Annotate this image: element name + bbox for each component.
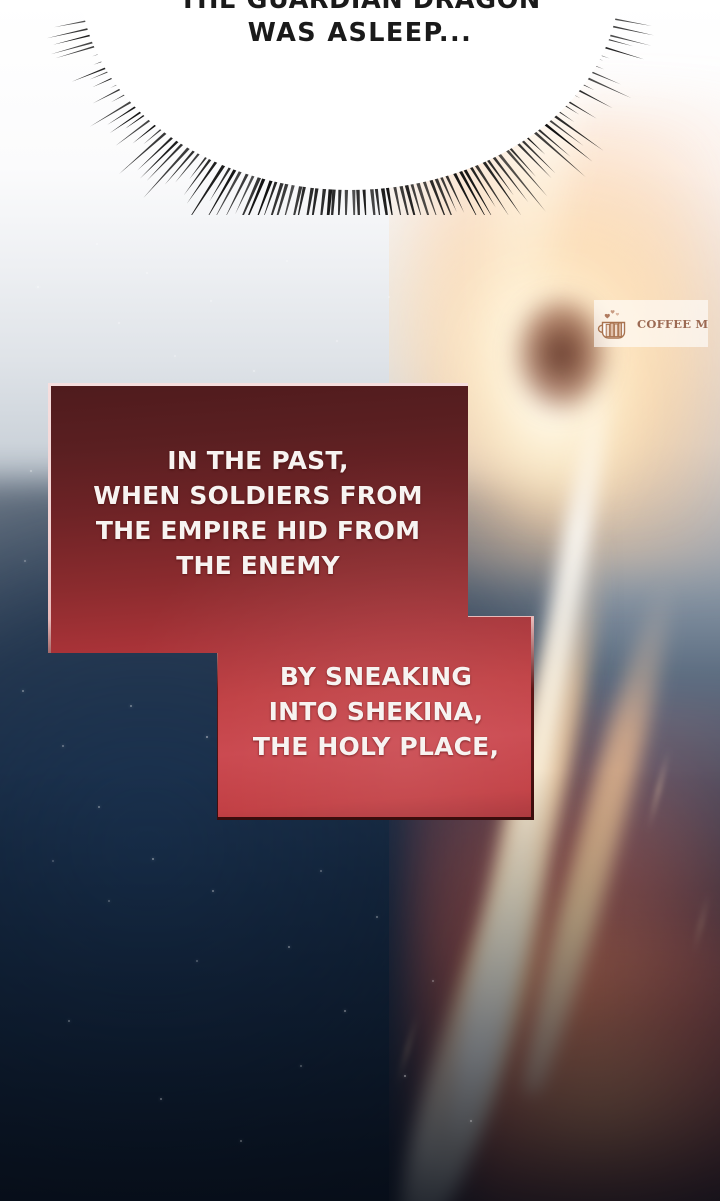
balloon-line-2: WAS ASLEEP... — [0, 17, 720, 50]
caption-text-block-2: BY SNEAKING INTO SHEKINA, THE HOLY PLACE… — [218, 659, 534, 764]
watermark: COFFEE MANGA — [594, 300, 708, 347]
narration-caption-box: IN THE PAST, WHEN SOLDIERS FROM THE EMPI… — [48, 383, 534, 820]
watermark-label: COFFEE MANGA — [637, 317, 708, 331]
caption-text-block-1: IN THE PAST, WHEN SOLDIERS FROM THE EMPI… — [48, 443, 468, 583]
balloon-text: THE GUARDIAN DRAGON WAS ASLEEP... — [0, 0, 720, 50]
coffee-cup-with-books-icon — [594, 302, 638, 346]
shout-balloon: THE GUARDIAN DRAGON WAS ASLEEP... — [0, 0, 720, 215]
comic-panel: THE GUARDIAN DRAGON WAS ASLEEP... COFFEE… — [0, 0, 720, 1201]
balloon-line-1: THE GUARDIAN DRAGON — [0, 0, 720, 17]
